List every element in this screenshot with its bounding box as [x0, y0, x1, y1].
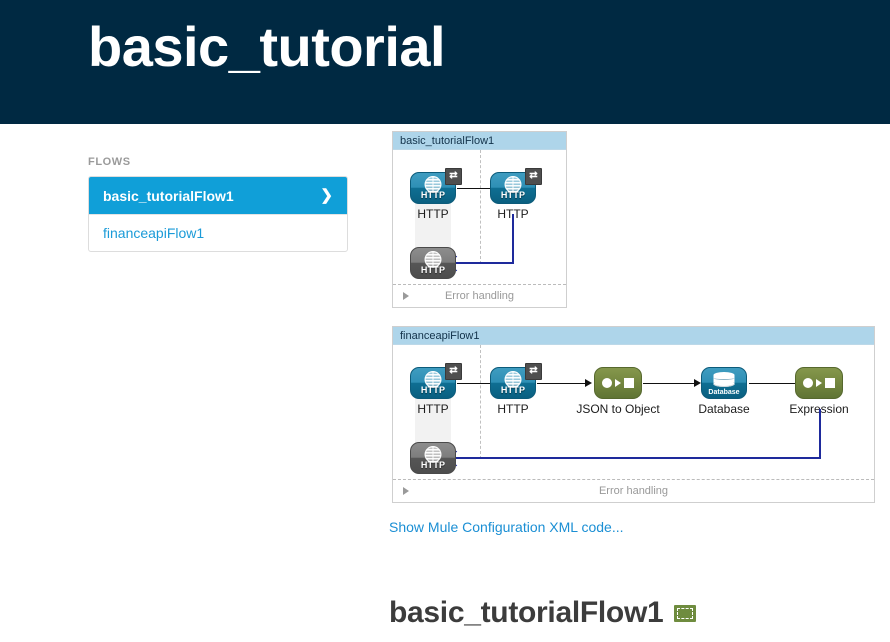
error-handling-label: Error handling — [445, 290, 514, 302]
sidebar-item-label: basic_tutorialFlow1 — [103, 188, 320, 204]
sidebar-item-label: financeapiFlow1 — [103, 225, 333, 241]
flow-badge-icon — [674, 605, 696, 622]
http-icon-text: HTTP — [411, 460, 455, 470]
error-handling-footer[interactable]: Error handling — [393, 284, 566, 307]
error-handling-label: Error handling — [599, 485, 668, 497]
cylinder-shape — [714, 372, 735, 387]
square-shape — [624, 378, 634, 388]
exchange-badge-icon: ⇄ — [525, 363, 542, 380]
expand-triangle-icon[interactable] — [403, 292, 409, 300]
http-icon-text: HTTP — [411, 190, 455, 200]
flows-sidebar: FLOWS basic_tutorialFlow1 ❯ financeapiFl… — [88, 156, 348, 252]
flow-panel-basic-tutorial-flow1[interactable]: basic_tutorialFlow1 HTTP ⇄ HTTP HTTP ⇄ H… — [392, 131, 567, 308]
http-icon-text: HTTP — [491, 190, 535, 200]
http-icon-text: HTTP — [491, 385, 535, 395]
flow-panel-financeapi-flow1[interactable]: financeapiFlow1 HTTP ⇄ HTTP HTTP ⇄ HTTP — [392, 326, 875, 503]
return-line-vertical — [819, 409, 821, 459]
exchange-badge-icon: ⇄ — [445, 168, 462, 185]
database-icon-text: Database — [702, 389, 746, 396]
arrow-shape — [615, 379, 621, 387]
http-response-icon: HTTP — [410, 442, 456, 474]
flow-detail-title: basic_tutorialFlow1 — [389, 596, 663, 630]
flow-node-label: HTTP — [467, 402, 559, 416]
http-icon: HTTP ⇄ — [490, 172, 536, 204]
database-icon: Database — [701, 367, 747, 399]
http-icon: HTTP ⇄ — [410, 367, 456, 399]
exchange-badge-icon: ⇄ — [525, 168, 542, 185]
flow-canvas: HTTP ⇄ HTTP HTTP ⇄ HTTP HTTP — [393, 150, 566, 286]
flow-detail-heading: basic_tutorialFlow1 — [389, 596, 696, 630]
connector-line — [643, 383, 696, 384]
http-icon: HTTP ⇄ — [410, 172, 456, 204]
http-icon: HTTP ⇄ — [490, 367, 536, 399]
sidebar-item-basic-tutorial-flow1[interactable]: basic_tutorialFlow1 ❯ — [89, 177, 347, 214]
http-response-icon: HTTP — [410, 247, 456, 279]
show-xml-code-link[interactable]: Show Mule Configuration XML code... — [389, 519, 624, 535]
http-icon-text: HTTP — [411, 385, 455, 395]
connector-line — [537, 383, 587, 384]
transform-glyph — [803, 378, 835, 388]
expand-triangle-icon[interactable] — [403, 487, 409, 495]
circle-shape — [602, 378, 612, 388]
transformer-icon — [795, 367, 843, 399]
flow-panel-title: financeapiFlow1 — [393, 327, 874, 345]
exchange-badge-icon: ⇄ — [445, 363, 462, 380]
transformer-icon — [594, 367, 642, 399]
sidebar-card: basic_tutorialFlow1 ❯ financeapiFlow1 — [88, 176, 348, 252]
page-title: basic_tutorial — [88, 14, 445, 79]
flow-panel-title: basic_tutorialFlow1 — [393, 132, 566, 150]
return-line-vertical — [512, 214, 514, 264]
page-header: basic_tutorial — [0, 0, 890, 124]
return-line-horizontal — [455, 457, 821, 459]
chevron-right-icon: ❯ — [320, 188, 333, 203]
flow-canvas: HTTP ⇄ HTTP HTTP ⇄ HTTP — [393, 345, 874, 481]
sidebar-item-financeapi-flow1[interactable]: financeapiFlow1 — [89, 214, 347, 251]
arrow-shape — [816, 379, 822, 387]
flow-node-label: Database — [678, 402, 770, 416]
transform-glyph — [602, 378, 634, 388]
square-shape — [825, 378, 835, 388]
connector-arrowhead — [694, 379, 701, 387]
cylinder-bottom — [714, 381, 735, 387]
flow-node-label: JSON to Object — [572, 402, 664, 416]
http-icon-text: HTTP — [411, 265, 455, 275]
circle-shape — [803, 378, 813, 388]
connector-arrowhead — [585, 379, 592, 387]
sidebar-section-label: FLOWS — [88, 156, 348, 176]
error-handling-footer[interactable]: Error handling — [393, 479, 874, 502]
